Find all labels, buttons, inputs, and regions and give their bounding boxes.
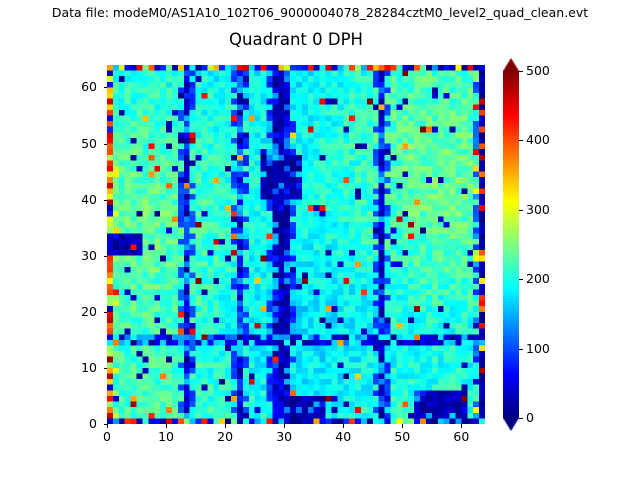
colorbar-tick-mark: [519, 210, 523, 211]
x-tick-label: 40: [335, 430, 351, 444]
y-tick-mark: [104, 424, 108, 425]
y-tick-mark: [104, 368, 108, 369]
x-tick-mark: [166, 424, 167, 428]
y-tick-label: 30: [65, 249, 97, 263]
colorbar-tick-mark: [519, 140, 523, 141]
colorbar-tick-mark: [519, 418, 523, 419]
y-tick-mark: [104, 200, 108, 201]
x-tick-mark: [284, 424, 285, 428]
y-tick-label: 60: [65, 80, 97, 94]
colorbar[interactable]: [503, 58, 519, 431]
colorbar-tick-label: 500: [526, 64, 550, 78]
colorbar-gradient: [503, 58, 519, 431]
x-tick-label: 50: [394, 430, 410, 444]
y-tick-mark: [104, 87, 108, 88]
colorbar-tick-mark: [519, 71, 523, 72]
colorbar-tick-label: 300: [526, 203, 550, 217]
x-tick-label: 30: [276, 430, 292, 444]
x-tick-mark: [402, 424, 403, 428]
x-tick-label: 60: [453, 430, 469, 444]
heatmap-axes[interactable]: [107, 65, 485, 424]
x-tick-label: 10: [158, 430, 174, 444]
colorbar-tick-mark: [519, 279, 523, 280]
y-tick-label: 40: [65, 193, 97, 207]
x-tick-mark: [461, 424, 462, 428]
page-title: Quadrant 0 DPH: [107, 30, 485, 50]
y-tick-mark: [104, 256, 108, 257]
data-file-label: Data file: modeM0/AS1A10_102T06_90000040…: [0, 5, 640, 21]
colorbar-tick-label: 100: [526, 342, 550, 356]
heatmap-image[interactable]: [107, 65, 485, 424]
matplotlib-figure: Data file: modeM0/AS1A10_102T06_90000040…: [0, 0, 640, 480]
y-tick-label: 0: [65, 417, 97, 431]
y-tick-label: 20: [65, 305, 97, 319]
x-tick-mark: [343, 424, 344, 428]
x-tick-mark: [225, 424, 226, 428]
y-tick-label: 50: [65, 137, 97, 151]
y-tick-mark: [104, 312, 108, 313]
x-tick-label: 20: [217, 430, 233, 444]
y-tick-mark: [104, 144, 108, 145]
colorbar-tick-label: 400: [526, 133, 550, 147]
colorbar-tick-label: 200: [526, 272, 550, 286]
colorbar-tick-mark: [519, 349, 523, 350]
y-tick-label: 10: [65, 361, 97, 375]
x-tick-mark: [107, 424, 108, 428]
colorbar-tick-label: 0: [526, 411, 534, 425]
x-tick-label: 0: [103, 430, 111, 444]
